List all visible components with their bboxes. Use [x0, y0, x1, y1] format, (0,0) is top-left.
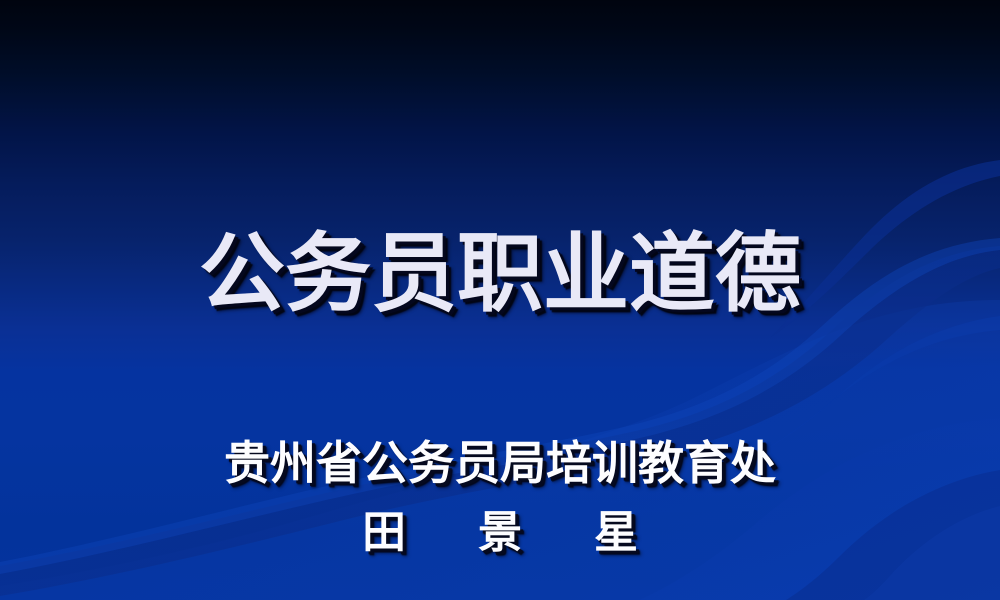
slide-subtitle-organization: 贵州省公务员局培训教育处 — [0, 438, 1000, 490]
title-slide: 公务员职业道德 贵州省公务员局培训教育处 田 景 星 — [0, 0, 1000, 600]
slide-author-name: 田 景 星 — [0, 508, 1000, 557]
slide-title: 公务员职业道德 — [0, 228, 1000, 321]
slide-text-content: 公务员职业道德 贵州省公务员局培训教育处 田 景 星 — [0, 0, 1000, 600]
